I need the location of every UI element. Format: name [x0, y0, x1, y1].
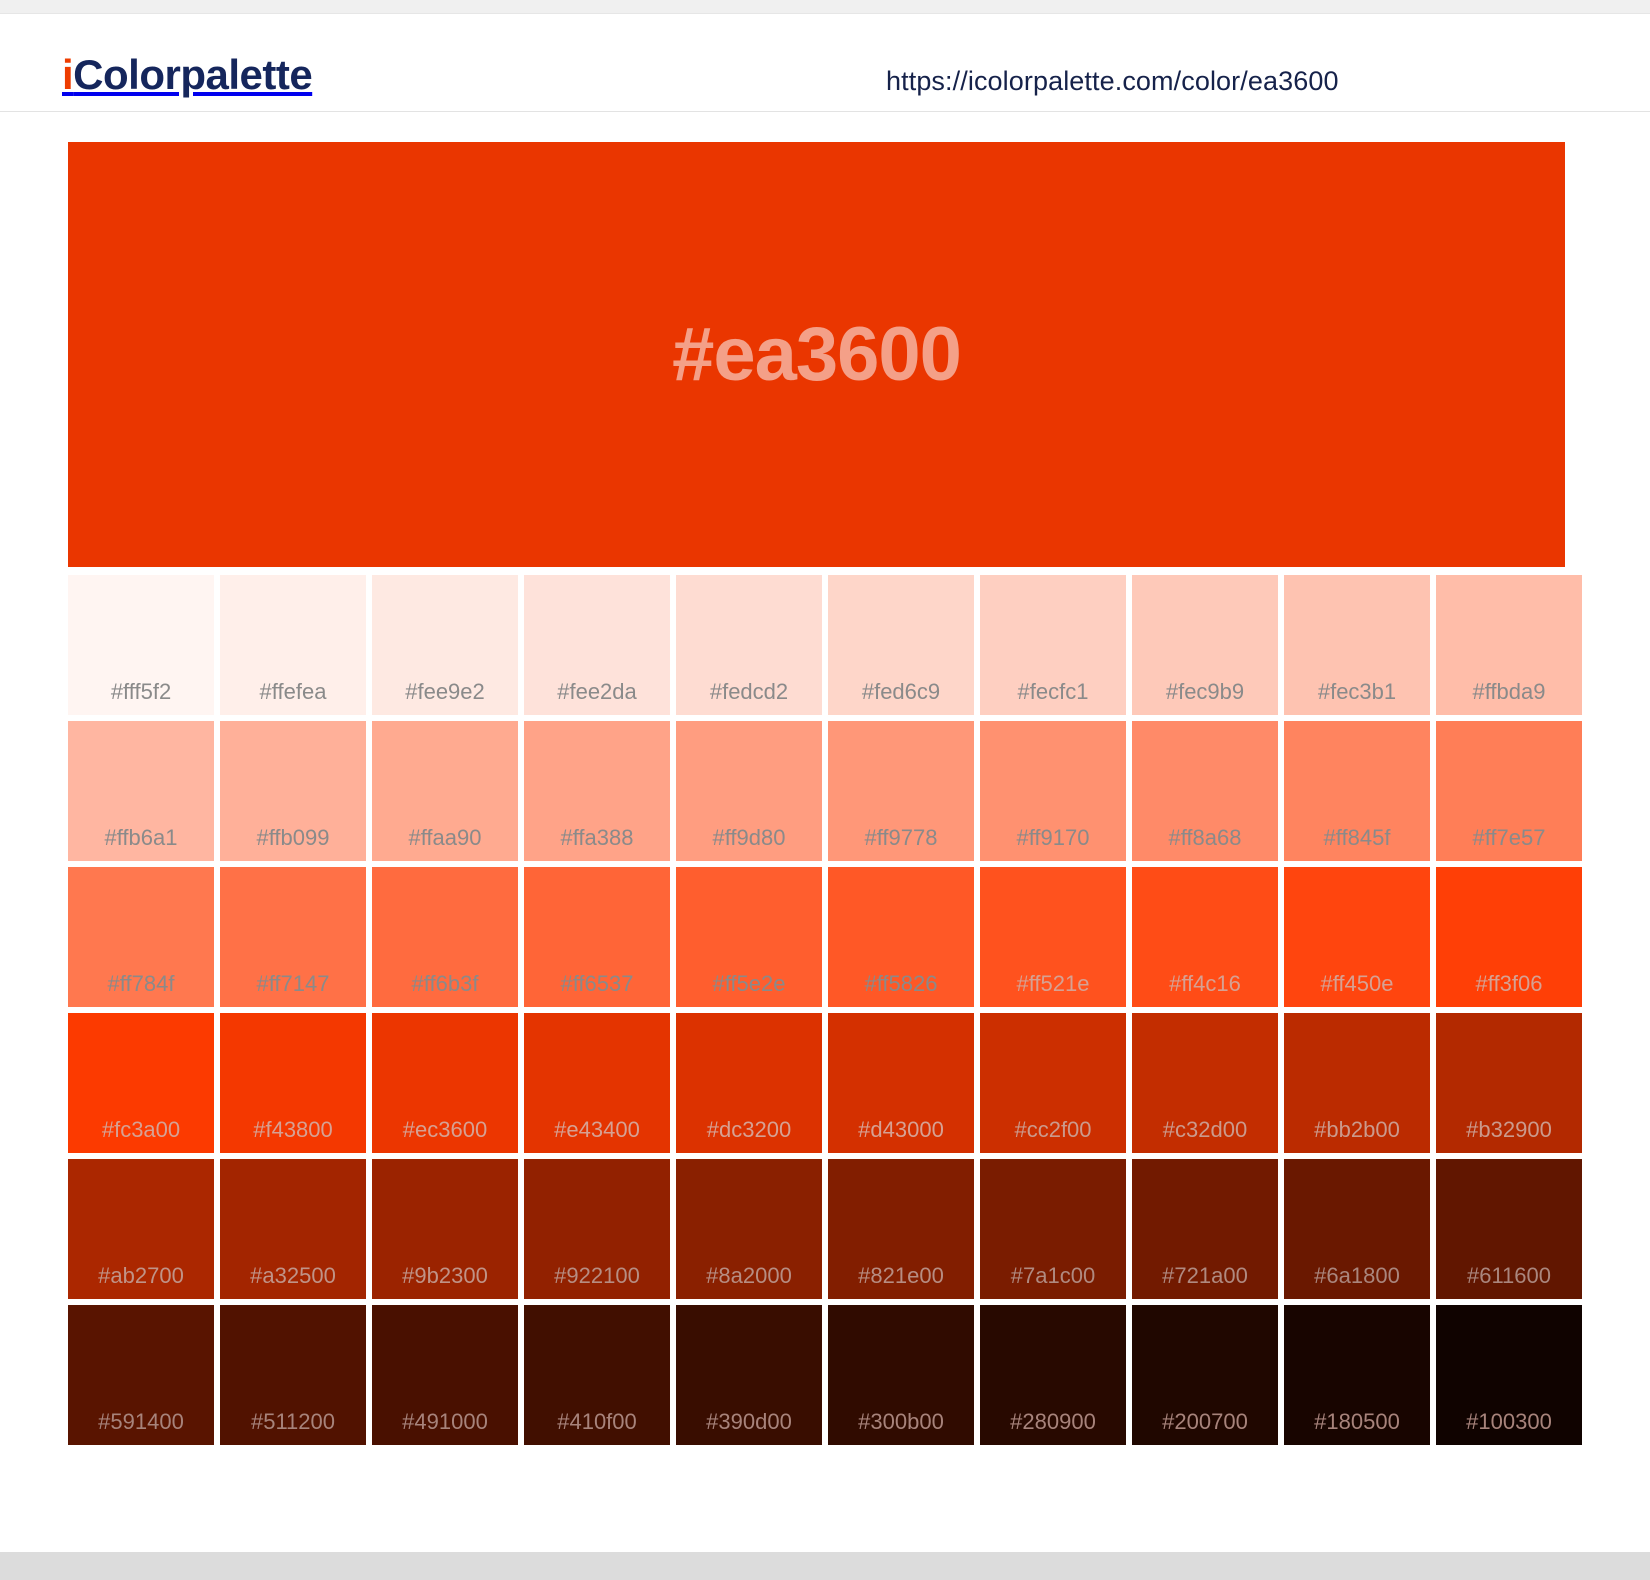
palette-swatch[interactable]: #ffb6a1: [68, 721, 214, 861]
palette-swatch[interactable]: #721a00: [1132, 1159, 1278, 1299]
palette-swatch-hex-label: #ffbda9: [1472, 681, 1545, 703]
palette-swatch[interactable]: #8a2000: [676, 1159, 822, 1299]
palette-swatch[interactable]: #fecfc1: [980, 575, 1126, 715]
palette-row: #ab2700#a32500#9b2300#922100#8a2000#821e…: [68, 1159, 1582, 1299]
palette-swatch-hex-label: #200700: [1162, 1411, 1248, 1433]
palette-swatch-hex-label: #922100: [554, 1265, 640, 1287]
palette-swatch[interactable]: #ff845f: [1284, 721, 1430, 861]
palette-swatch-hex-label: #611600: [1467, 1265, 1551, 1287]
palette-swatch[interactable]: #410f00: [524, 1305, 670, 1445]
palette-swatch[interactable]: #390d00: [676, 1305, 822, 1445]
palette-swatch[interactable]: #fedcd2: [676, 575, 822, 715]
palette-swatch[interactable]: #ff3f06: [1436, 867, 1582, 1007]
palette-swatch-hex-label: #fedcd2: [710, 681, 788, 703]
palette-swatch[interactable]: #280900: [980, 1305, 1126, 1445]
palette-row: #591400#511200#491000#410f00#390d00#300b…: [68, 1305, 1582, 1445]
palette-swatch[interactable]: #bb2b00: [1284, 1013, 1430, 1153]
palette-swatch[interactable]: #ff7147: [220, 867, 366, 1007]
palette-swatch[interactable]: #fee2da: [524, 575, 670, 715]
palette-swatch-hex-label: #fff5f2: [111, 681, 171, 703]
palette-swatch-hex-label: #ff5826: [864, 973, 937, 995]
palette-swatch-hex-label: #ff5e2e: [712, 973, 785, 995]
palette-swatch[interactable]: #ff784f: [68, 867, 214, 1007]
palette-swatch-hex-label: #9b2300: [402, 1265, 488, 1287]
palette-swatch-hex-label: #ff845f: [1324, 827, 1391, 849]
palette-swatch[interactable]: #ffefea: [220, 575, 366, 715]
palette-swatch-hex-label: #fec9b9: [1166, 681, 1244, 703]
palette-swatch[interactable]: #d43000: [828, 1013, 974, 1153]
palette-swatch[interactable]: #200700: [1132, 1305, 1278, 1445]
palette-swatch-hex-label: #e43400: [554, 1119, 640, 1141]
palette-swatch-hex-label: #fec3b1: [1318, 681, 1396, 703]
palette-row: #fff5f2#ffefea#fee9e2#fee2da#fedcd2#fed6…: [68, 575, 1582, 715]
palette-swatch[interactable]: #ff9170: [980, 721, 1126, 861]
palette-swatch[interactable]: #f43800: [220, 1013, 366, 1153]
logo-word-colorpalette: Colorpalette: [73, 51, 312, 98]
palette-swatch[interactable]: #ff4c16: [1132, 867, 1278, 1007]
palette-grid: #fff5f2#ffefea#fee9e2#fee2da#fedcd2#fed6…: [0, 567, 1650, 1445]
palette-swatch[interactable]: #fc3a00: [68, 1013, 214, 1153]
main-color-swatch[interactable]: #ea3600: [68, 142, 1565, 567]
palette-swatch[interactable]: #a32500: [220, 1159, 366, 1299]
browser-top-strip: [0, 0, 1650, 14]
site-logo[interactable]: iColorpalette: [62, 54, 312, 96]
palette-swatch[interactable]: #ffa388: [524, 721, 670, 861]
palette-swatch-hex-label: #ff7147: [256, 973, 329, 995]
palette-swatch[interactable]: #ff521e: [980, 867, 1126, 1007]
palette-swatch[interactable]: #611600: [1436, 1159, 1582, 1299]
palette-swatch[interactable]: #ff450e: [1284, 867, 1430, 1007]
logo-letter-i: i: [62, 51, 73, 98]
palette-swatch[interactable]: #ffaa90: [372, 721, 518, 861]
palette-swatch-hex-label: #300b00: [858, 1411, 944, 1433]
palette-swatch-hex-label: #ab2700: [98, 1265, 184, 1287]
palette-swatch[interactable]: #100300: [1436, 1305, 1582, 1445]
palette-swatch-hex-label: #ff450e: [1320, 973, 1393, 995]
palette-swatch[interactable]: #9b2300: [372, 1159, 518, 1299]
palette-swatch-hex-label: #ffa388: [560, 827, 633, 849]
palette-swatch-hex-label: #fecfc1: [1018, 681, 1089, 703]
palette-swatch-hex-label: #721a00: [1162, 1265, 1248, 1287]
palette-swatch[interactable]: #e43400: [524, 1013, 670, 1153]
hero-wrapper: #ea3600: [0, 112, 1650, 567]
palette-swatch-hex-label: #ffaa90: [408, 827, 481, 849]
palette-swatch[interactable]: #fec3b1: [1284, 575, 1430, 715]
palette-swatch-hex-label: #7a1c00: [1011, 1265, 1095, 1287]
palette-swatch-hex-label: #a32500: [250, 1265, 336, 1287]
palette-swatch[interactable]: #7a1c00: [980, 1159, 1126, 1299]
palette-swatch[interactable]: #ff8a68: [1132, 721, 1278, 861]
palette-swatch[interactable]: #b32900: [1436, 1013, 1582, 1153]
main-color-hex-label: #ea3600: [672, 311, 961, 398]
palette-swatch-hex-label: #ff7e57: [1472, 827, 1545, 849]
page-url: https://icolorpalette.com/color/ea3600: [886, 66, 1339, 97]
palette-swatch-hex-label: #6a1800: [1314, 1265, 1400, 1287]
palette-swatch-hex-label: #ff6537: [560, 973, 633, 995]
palette-swatch-hex-label: #ffb099: [256, 827, 329, 849]
palette-swatch[interactable]: #ff9778: [828, 721, 974, 861]
palette-swatch[interactable]: #180500: [1284, 1305, 1430, 1445]
palette-row: #fc3a00#f43800#ec3600#e43400#dc3200#d430…: [68, 1013, 1582, 1153]
palette-swatch-hex-label: #d43000: [858, 1119, 944, 1141]
palette-swatch-hex-label: #ff9d80: [712, 827, 785, 849]
palette-swatch-hex-label: #100300: [1466, 1411, 1552, 1433]
palette-swatch-hex-label: #cc2f00: [1014, 1119, 1091, 1141]
palette-swatch-hex-label: #c32d00: [1163, 1119, 1247, 1141]
palette-swatch[interactable]: #ec3600: [372, 1013, 518, 1153]
palette-swatch-hex-label: #280900: [1010, 1411, 1096, 1433]
palette-swatch-hex-label: #591400: [98, 1411, 184, 1433]
palette-swatch[interactable]: #491000: [372, 1305, 518, 1445]
palette-swatch[interactable]: #ff5e2e: [676, 867, 822, 1007]
palette-swatch[interactable]: #300b00: [828, 1305, 974, 1445]
palette-swatch[interactable]: #511200: [220, 1305, 366, 1445]
palette-swatch[interactable]: #fff5f2: [68, 575, 214, 715]
palette-swatch[interactable]: #ab2700: [68, 1159, 214, 1299]
palette-swatch-hex-label: #ffb6a1: [104, 827, 177, 849]
palette-swatch-hex-label: #ec3600: [403, 1119, 487, 1141]
palette-swatch-hex-label: #8a2000: [706, 1265, 792, 1287]
palette-swatch[interactable]: #ff7e57: [1436, 721, 1582, 861]
palette-swatch-hex-label: #ff9778: [864, 827, 937, 849]
palette-swatch[interactable]: #922100: [524, 1159, 670, 1299]
palette-swatch-hex-label: #ff4c16: [1169, 973, 1241, 995]
palette-swatch[interactable]: #fed6c9: [828, 575, 974, 715]
palette-swatch[interactable]: #fee9e2: [372, 575, 518, 715]
palette-swatch[interactable]: #ffbda9: [1436, 575, 1582, 715]
palette-swatch-hex-label: #390d00: [706, 1411, 792, 1433]
palette-swatch[interactable]: #ff6537: [524, 867, 670, 1007]
palette-swatch-hex-label: #b32900: [1466, 1119, 1552, 1141]
palette-swatch-hex-label: #dc3200: [707, 1119, 791, 1141]
palette-swatch[interactable]: #6a1800: [1284, 1159, 1430, 1299]
palette-swatch[interactable]: #c32d00: [1132, 1013, 1278, 1153]
palette-swatch-hex-label: #ff784f: [108, 973, 175, 995]
palette-swatch[interactable]: #cc2f00: [980, 1013, 1126, 1153]
palette-swatch-hex-label: #180500: [1314, 1411, 1400, 1433]
palette-swatch[interactable]: #dc3200: [676, 1013, 822, 1153]
palette-swatch-hex-label: #410f00: [557, 1411, 637, 1433]
site-header: iColorpalette https://icolorpalette.com/…: [0, 14, 1650, 112]
site-footer: [0, 1552, 1650, 1580]
palette-swatch[interactable]: #591400: [68, 1305, 214, 1445]
palette-swatch[interactable]: #ff9d80: [676, 721, 822, 861]
palette-row: #ff784f#ff7147#ff6b3f#ff6537#ff5e2e#ff58…: [68, 867, 1582, 1007]
palette-swatch-hex-label: #511200: [251, 1411, 335, 1433]
palette-swatch-hex-label: #fc3a00: [102, 1119, 180, 1141]
palette-swatch-hex-label: #fed6c9: [862, 681, 940, 703]
palette-swatch-hex-label: #ff9170: [1016, 827, 1089, 849]
palette-swatch[interactable]: #ff5826: [828, 867, 974, 1007]
palette-swatch-hex-label: #f43800: [253, 1119, 333, 1141]
palette-swatch-hex-label: #fee9e2: [405, 681, 485, 703]
palette-swatch[interactable]: #821e00: [828, 1159, 974, 1299]
palette-swatch-hex-label: #ff3f06: [1476, 973, 1543, 995]
palette-swatch-hex-label: #ffefea: [260, 681, 327, 703]
palette-row: #ffb6a1#ffb099#ffaa90#ffa388#ff9d80#ff97…: [68, 721, 1582, 861]
palette-swatch[interactable]: #ffb099: [220, 721, 366, 861]
palette-swatch-hex-label: #bb2b00: [1314, 1119, 1400, 1141]
palette-swatch-hex-label: #491000: [402, 1411, 488, 1433]
palette-swatch[interactable]: #fec9b9: [1132, 575, 1278, 715]
palette-swatch-hex-label: #821e00: [858, 1265, 944, 1287]
palette-swatch-hex-label: #ff8a68: [1168, 827, 1241, 849]
palette-swatch-hex-label: #ff6b3f: [412, 973, 479, 995]
palette-swatch[interactable]: #ff6b3f: [372, 867, 518, 1007]
palette-swatch-hex-label: #ff521e: [1016, 973, 1089, 995]
palette-swatch-hex-label: #fee2da: [557, 681, 637, 703]
